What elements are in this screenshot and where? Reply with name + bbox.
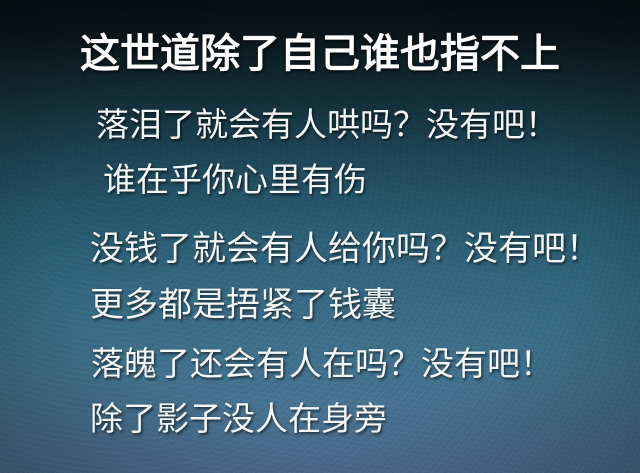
stanza-1-line-1: 落泪了就会有人哄吗？没有吧！ — [96, 108, 640, 141]
stanza-3: 落魄了还会有人在吗？没有吧！ 除了影子没人在身旁 — [0, 347, 640, 435]
poster-image: 这世道除了自己谁也指不上 落泪了就会有人哄吗？没有吧！ 谁在乎你心里有伤 没钱了… — [0, 0, 640, 473]
stanza-3-line-2: 除了影子没人在身旁 — [90, 402, 640, 435]
stanza-1-line-2: 谁在乎你心里有伤 — [103, 163, 640, 196]
stanza-3-line-1: 落魄了还会有人在吗？没有吧！ — [91, 347, 640, 380]
poster-content: 这世道除了自己谁也指不上 落泪了就会有人哄吗？没有吧！ 谁在乎你心里有伤 没钱了… — [0, 0, 640, 473]
stanza-1: 落泪了就会有人哄吗？没有吧！ 谁在乎你心里有伤 — [0, 108, 640, 196]
stanza-2-line-1: 没钱了就会有人给你吗？没有吧！ — [90, 232, 640, 266]
stanza-2-line-2: 更多都是捂紧了钱囊 — [90, 288, 640, 322]
stanza-2: 没钱了就会有人给你吗？没有吧！ 更多都是捂紧了钱囊 — [0, 232, 640, 322]
poster-title: 这世道除了自己谁也指不上 — [0, 21, 640, 79]
